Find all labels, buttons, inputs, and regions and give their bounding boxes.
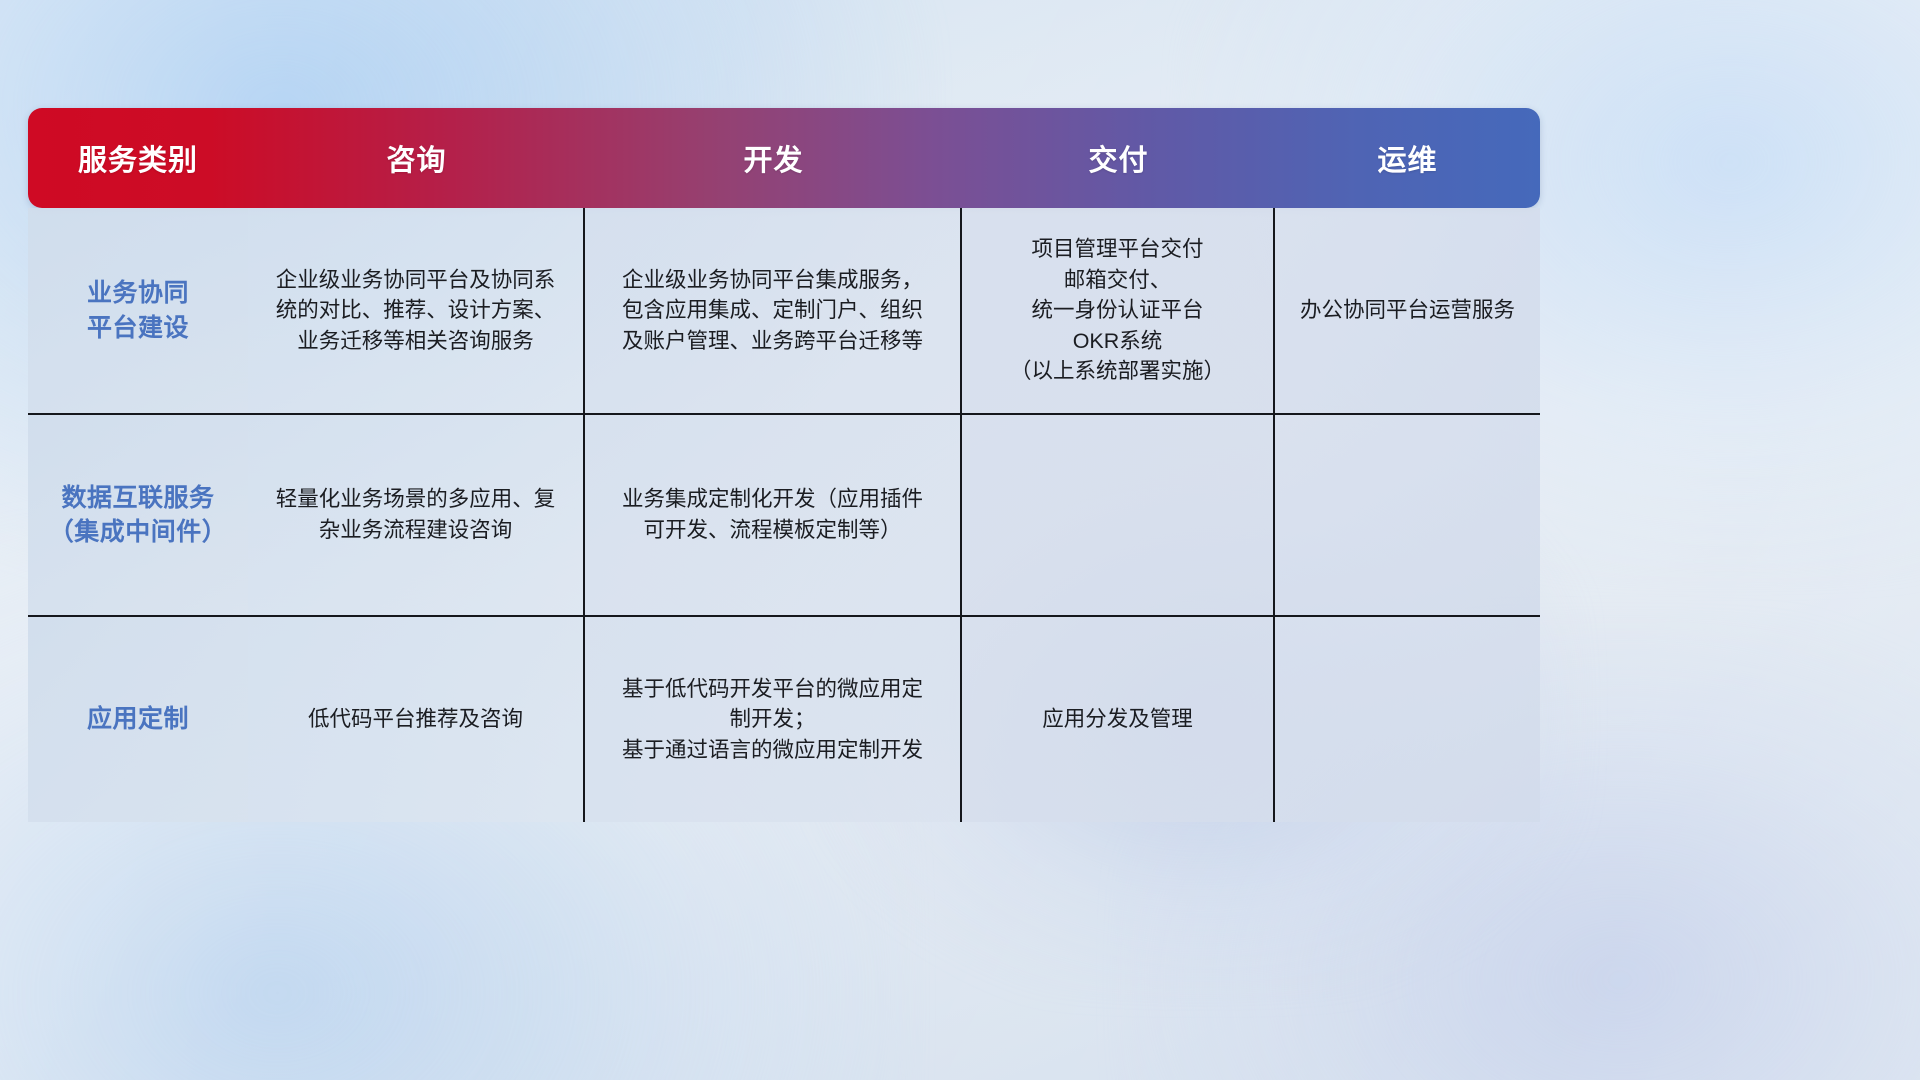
table-header-row: 服务类别 咨询 开发 交付 运维 [28,108,1540,208]
row-category-label: 业务协同 平台建设 [28,208,248,413]
cell-development: 企业级业务协同平台集成服务， 包含应用集成、定制门户、组织 及账户管理、业务跨平… [585,208,962,413]
cell-consulting: 企业级业务协同平台及协同系 统的对比、推荐、设计方案、 业务迁移等相关咨询服务 [248,208,585,413]
cell-consulting: 轻量化业务场景的多应用、复 杂业务流程建设咨询 [248,415,585,615]
cell-delivery [962,415,1275,615]
slide-canvas: 服务类别 咨询 开发 交付 运维 业务协同 平台建设 企业级业务协同平台及协同系… [0,0,1920,1080]
table-row: 数据互联服务 （集成中间件） 轻量化业务场景的多应用、复 杂业务流程建设咨询 业… [28,415,1540,617]
row-category-label: 数据互联服务 （集成中间件） [28,415,248,615]
cell-operations: 办公协同平台运营服务 [1275,208,1540,413]
table-row: 应用定制 低代码平台推荐及咨询 基于低代码开发平台的微应用定 制开发； 基于通过… [28,617,1540,822]
column-header-operations: 运维 [1275,108,1540,208]
cell-development: 业务集成定制化开发（应用插件 可开发、流程模板定制等） [585,415,962,615]
table-row: 业务协同 平台建设 企业级业务协同平台及协同系 统的对比、推荐、设计方案、 业务… [28,208,1540,415]
cell-delivery: 应用分发及管理 [962,617,1275,822]
service-matrix-table: 服务类别 咨询 开发 交付 运维 业务协同 平台建设 企业级业务协同平台及协同系… [28,108,1540,822]
column-header-development: 开发 [585,108,962,208]
cell-delivery: 项目管理平台交付 邮箱交付、 统一身份认证平台 OKR系统 （以上系统部署实施） [962,208,1275,413]
row-category-label: 应用定制 [28,617,248,822]
table-body: 业务协同 平台建设 企业级业务协同平台及协同系 统的对比、推荐、设计方案、 业务… [28,208,1540,822]
cell-consulting: 低代码平台推荐及咨询 [248,617,585,822]
column-header-delivery: 交付 [962,108,1275,208]
column-header-service-category: 服务类别 [28,108,248,208]
cell-operations [1275,415,1540,615]
cell-development: 基于低代码开发平台的微应用定 制开发； 基于通过语言的微应用定制开发 [585,617,962,822]
cell-operations [1275,617,1540,822]
column-header-consulting: 咨询 [248,108,585,208]
